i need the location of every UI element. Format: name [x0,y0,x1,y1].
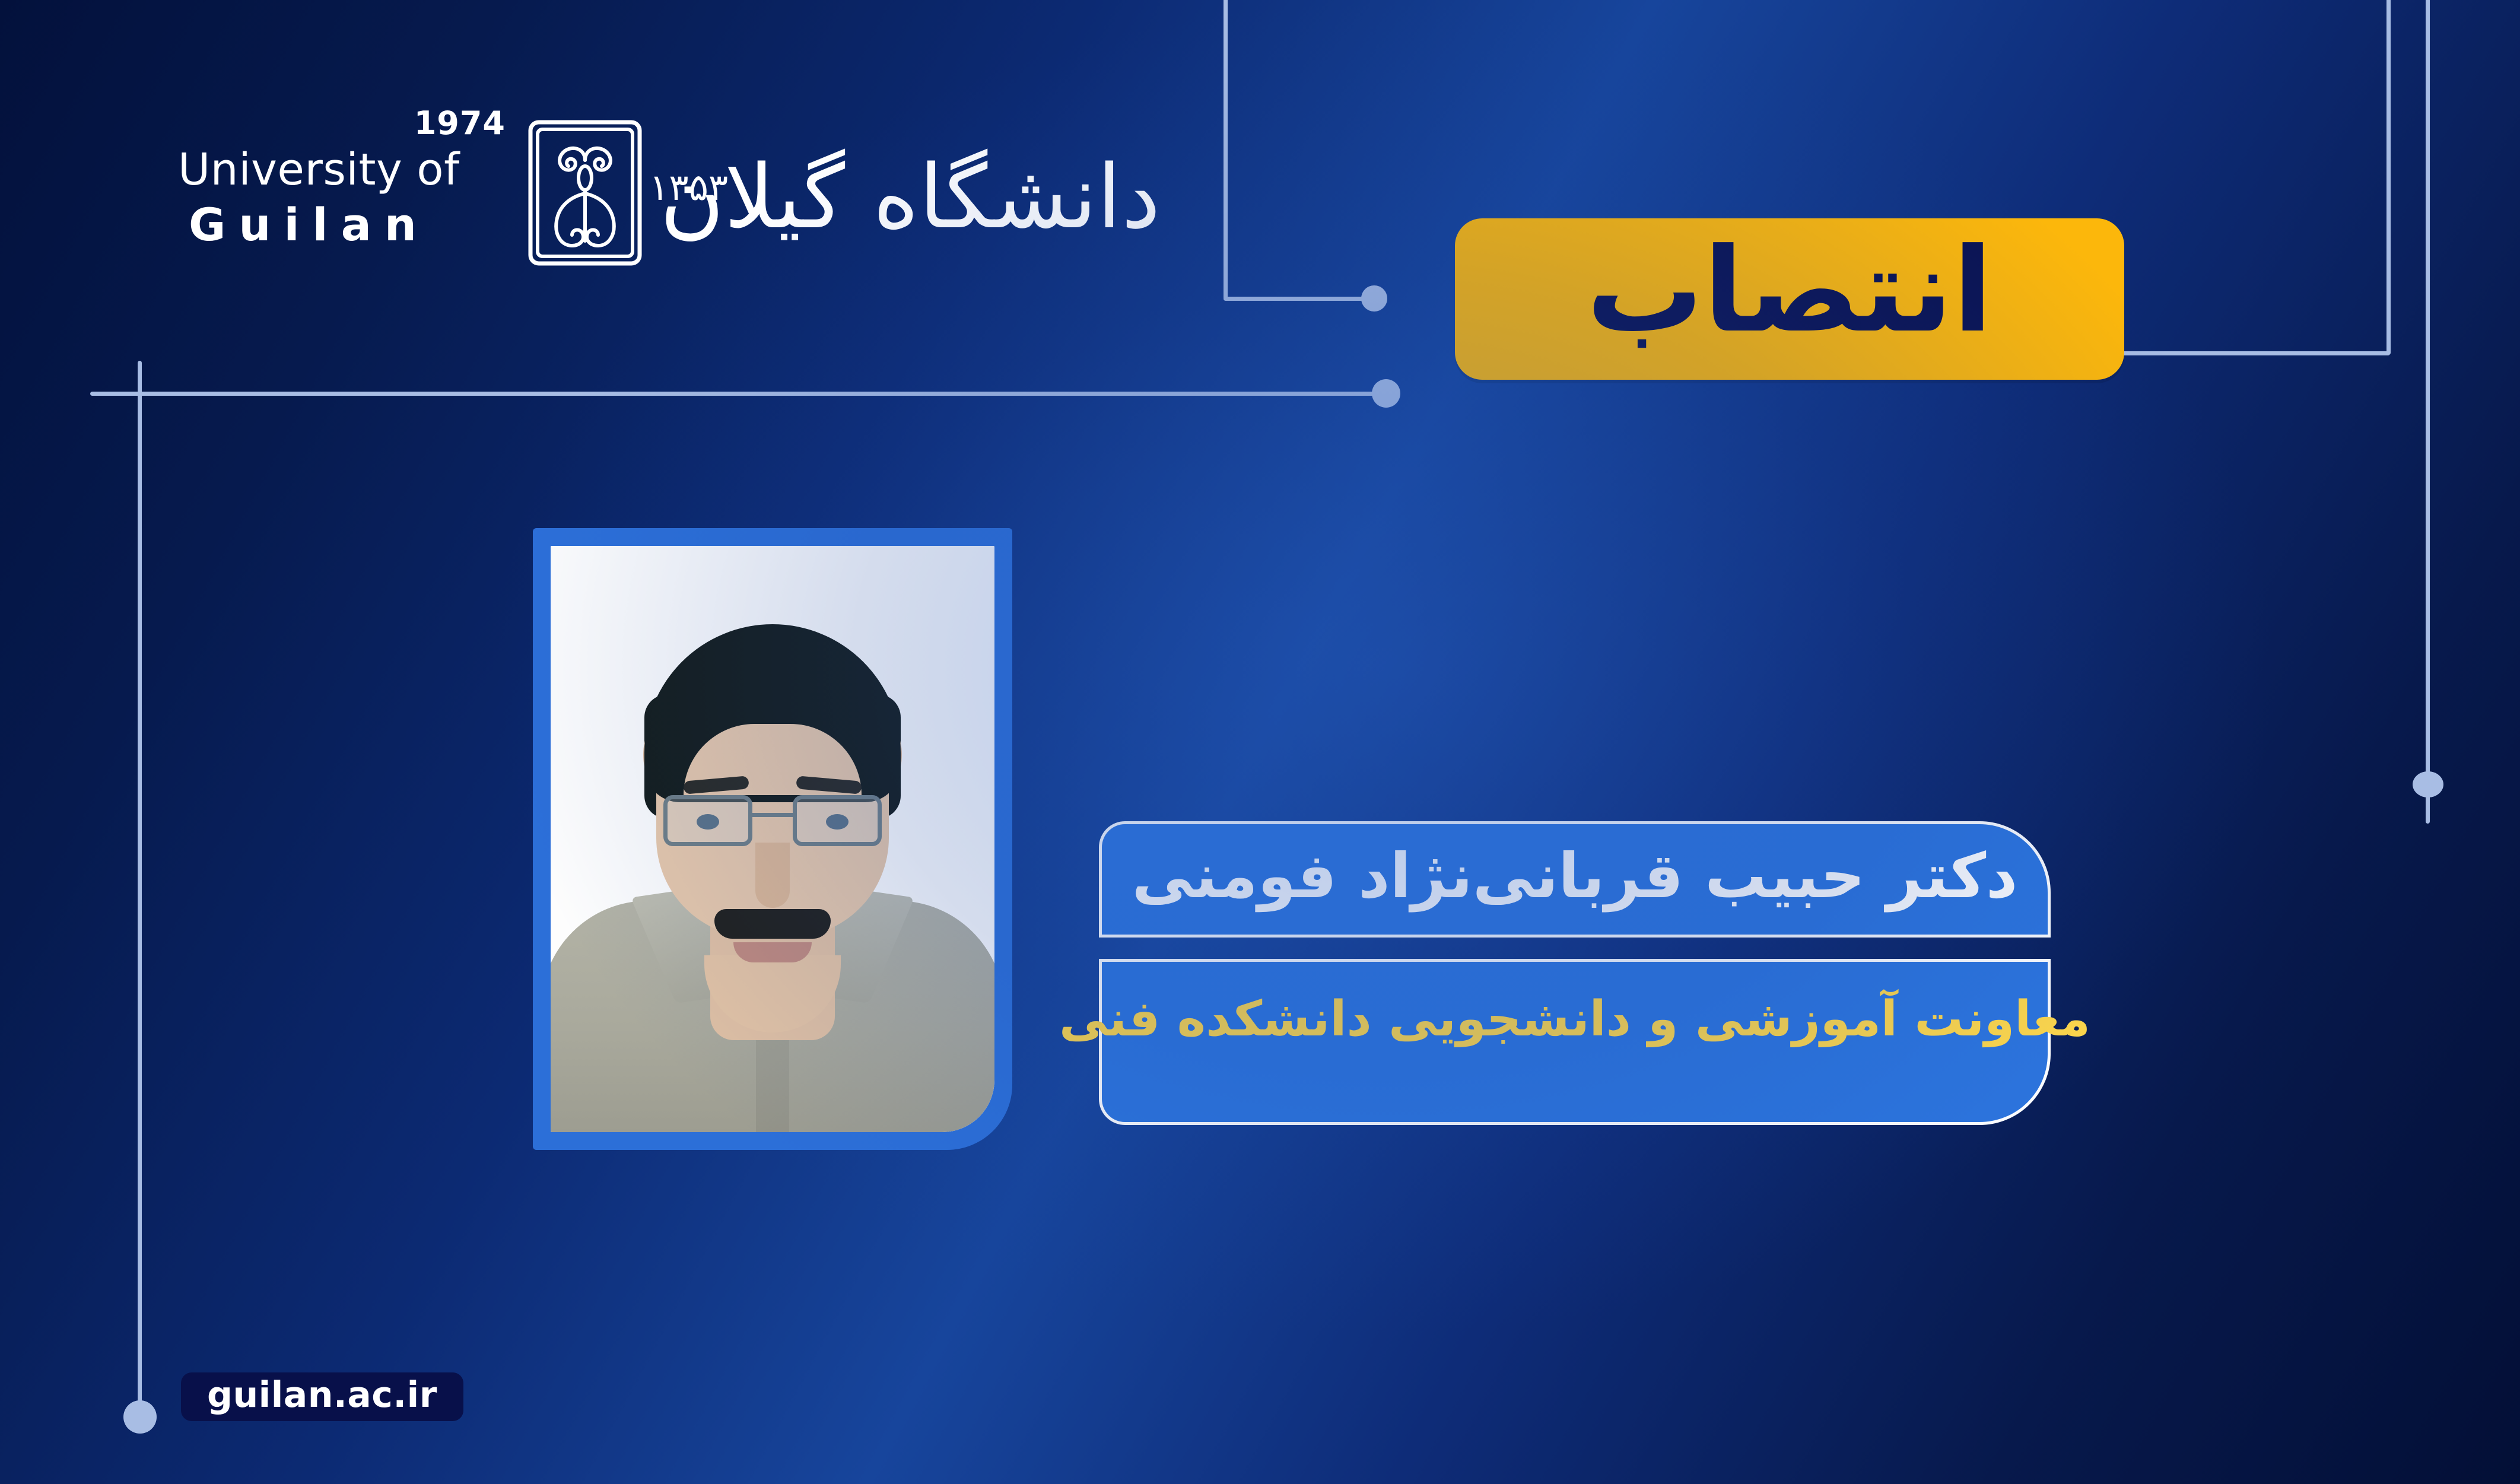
university-emblem-icon [526,119,644,267]
top-center-vertical-rule [1224,0,1228,300]
logo-persian-name: دانشگاه گیلان [660,146,1161,248]
portrait-illustration [551,546,994,1132]
far-right-rule-end-dot [2413,771,2443,797]
top-center-horizontal-rule [1224,297,1372,301]
left-vertical-rule-end-dot [123,1400,157,1434]
portrait-photo-frame [533,528,1012,1150]
website-url: guilan.ac.ir [207,1377,437,1413]
eyeglass-lens-right [793,795,882,846]
headline-badge: انتصاب [1455,218,2124,380]
logo-university-of-label: University of [178,148,510,192]
logo-english-wordmark: 1974 University of Guilan [178,138,510,247]
top-center-bracket-end-dot [1361,285,1387,312]
headline-badge-label: انتصاب [1587,233,1993,349]
eyeglass-lens-left [663,795,752,846]
eyeglass-bridge [752,813,793,817]
upper-right-vertical-rule [2386,0,2391,355]
poster-canvas: 1974 University of Guilan ۱۳۵۳ دانشگاه گ… [0,0,2520,1484]
website-url-pill[interactable]: guilan.ac.ir [181,1372,463,1421]
far-right-vertical-rule [2426,0,2430,824]
top-left-rule-end-dot [1372,379,1400,408]
portrait-eyeglasses [663,795,882,850]
person-name-banner: دکتر حبیب قربانی‌نژاد فومنی [1099,821,2051,938]
person-name: دکتر حبیب قربانی‌نژاد فومنی [1132,845,2018,907]
top-left-horizontal-rule [90,392,1384,396]
portrait-nose [755,843,790,908]
portrait-photo [551,546,994,1132]
person-position: معاونت آموزشی و دانشجویی دانشکده فنی [1059,995,2090,1044]
university-logo-lockup: 1974 University of Guilan ۱۳۵۳ دانشگاه گ… [178,116,1222,270]
logo-guilan-label: Guilan [178,202,510,247]
logo-year-hijri-shamsi: ۱۳۵۳ [649,168,728,206]
portrait-mouth [733,942,812,962]
person-position-banner: معاونت آموزشی و دانشجویی دانشکده فنی [1099,959,2051,1125]
logo-year-gregorian: 1974 [414,107,506,139]
portrait-mustache [714,909,831,939]
logo-persian-wordmark: ۱۳۵۳ دانشگاه گیلان [660,142,1161,243]
left-vertical-rule [138,361,142,1423]
